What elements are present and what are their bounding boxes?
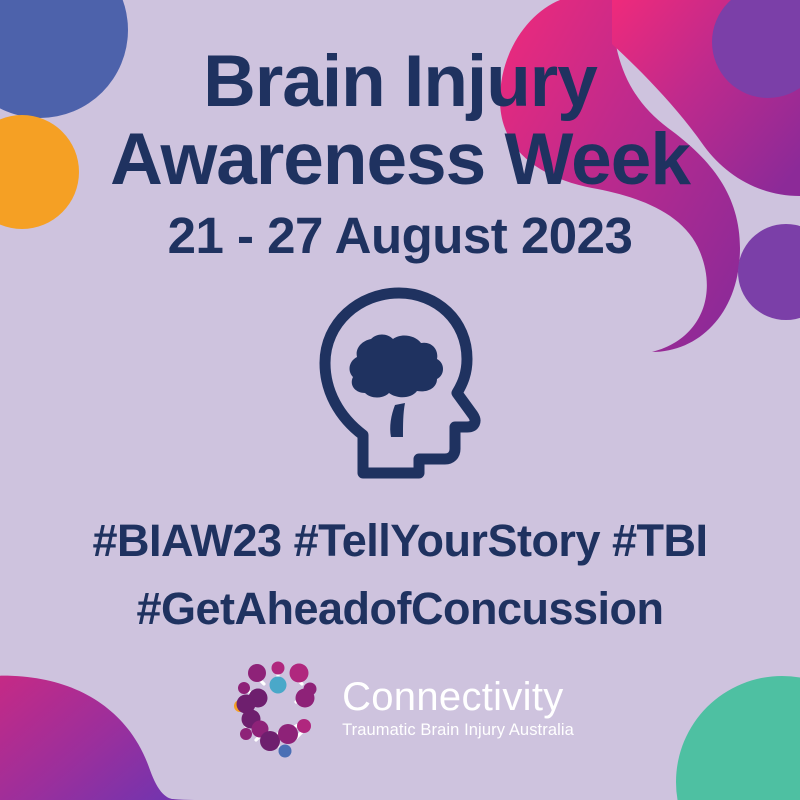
logo-name: Connectivity bbox=[342, 677, 574, 717]
poster-content: Brain Injury Awareness Week 21 - 27 Augu… bbox=[0, 0, 800, 800]
title-line-2: Awareness Week bbox=[110, 124, 690, 196]
logo-wordmark: Connectivity Traumatic Brain Injury Aust… bbox=[342, 677, 574, 739]
connectivity-c-nodes-logo bbox=[226, 656, 330, 760]
event-dates: 21 - 27 August 2023 bbox=[110, 211, 690, 261]
head-brain-icon bbox=[295, 283, 505, 483]
title-line-1: Brain Injury bbox=[110, 46, 690, 118]
brain-shape bbox=[350, 335, 443, 438]
hashtag-line-1: #BIAW23 #TellYourStory #TBI bbox=[93, 507, 708, 575]
hashtag-block: #BIAW23 #TellYourStory #TBI #GetAheadofC… bbox=[93, 507, 708, 642]
page-title: Brain Injury Awareness Week 21 - 27 Augu… bbox=[110, 46, 690, 261]
hashtag-line-2: #GetAheadofConcussion bbox=[93, 575, 708, 643]
logo-tagline: Traumatic Brain Injury Australia bbox=[342, 722, 574, 739]
connectivity-logo: Connectivity Traumatic Brain Injury Aust… bbox=[226, 656, 574, 760]
poster-canvas: Brain Injury Awareness Week 21 - 27 Augu… bbox=[0, 0, 800, 800]
logo-node-dots bbox=[234, 662, 317, 758]
